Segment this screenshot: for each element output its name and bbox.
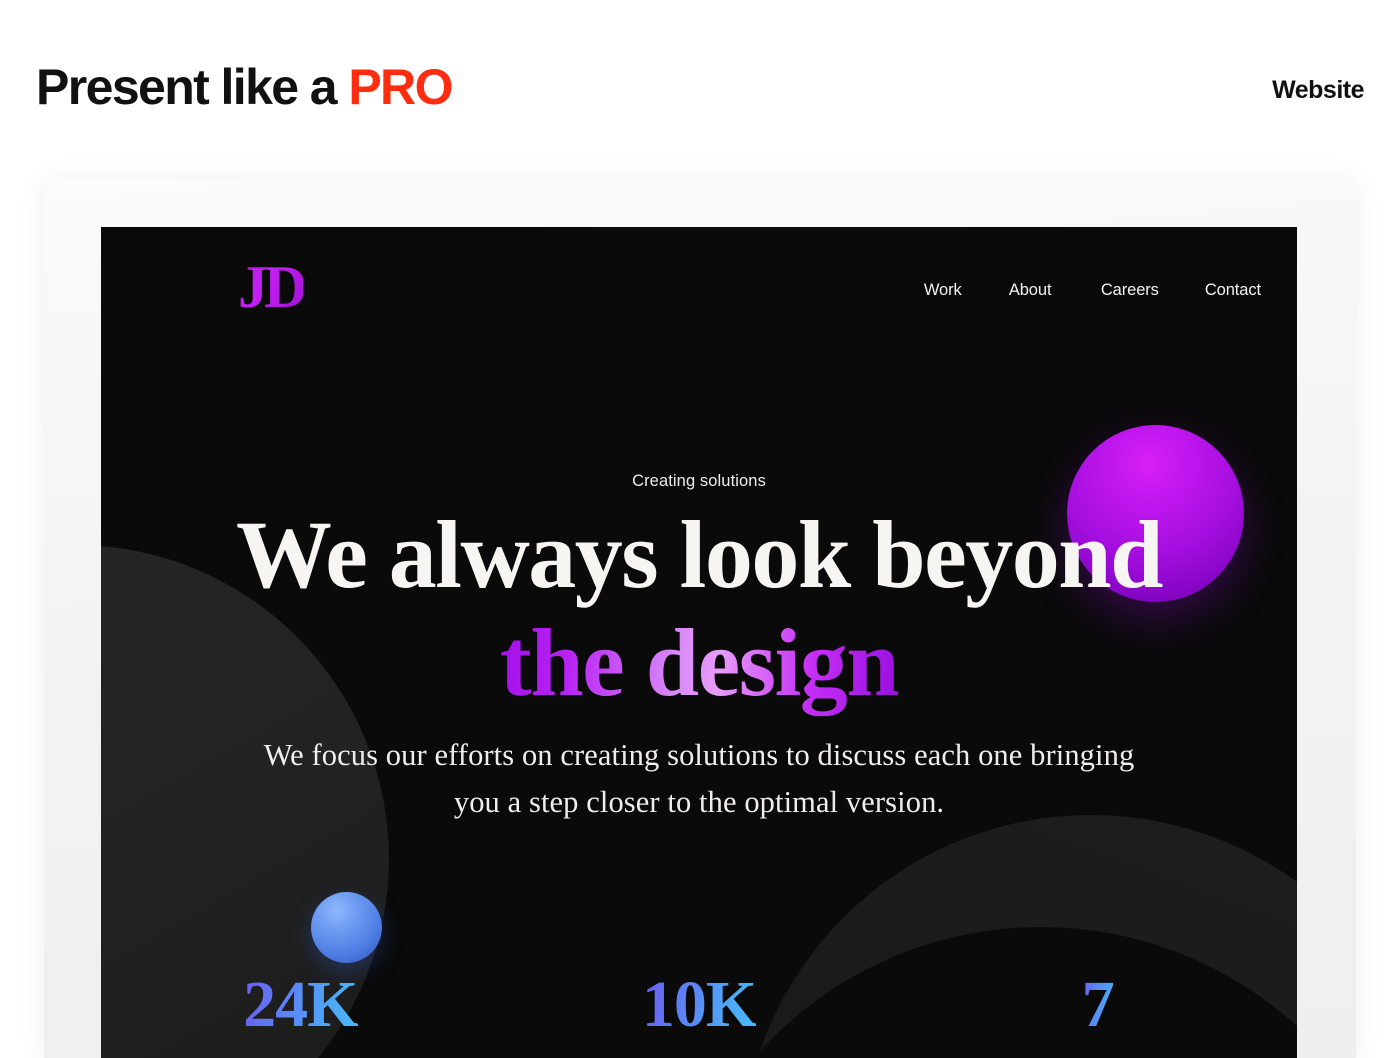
stat-item-3: 7 xyxy=(898,972,1297,1038)
stat-value-3: 7 xyxy=(1082,968,1114,1041)
stat-item-1: 24K xyxy=(101,972,500,1038)
nav-links: Work About Careers Contact xyxy=(924,281,1261,300)
page-title-main: Present like a xyxy=(36,59,348,115)
hero-headline-gradient-text: the design xyxy=(500,609,898,716)
stat-item-2: 10K xyxy=(500,972,899,1038)
hero-headline-line-2: the design xyxy=(101,615,1297,711)
stat-value-2: 10K xyxy=(642,968,756,1041)
hero-paragraph: We focus our efforts on creating solutio… xyxy=(261,732,1137,827)
hero-headline-line-1: We always look beyond xyxy=(101,507,1297,603)
website-preview: JD Work About Careers Contact Creating s… xyxy=(101,227,1297,1058)
stats-row: 24K 10K 7 xyxy=(101,972,1297,1038)
category-label: Website xyxy=(1272,78,1364,103)
page-header: Present like a PRO Website xyxy=(0,0,1400,178)
stat-value-1: 24K xyxy=(243,968,357,1041)
mockup-frame: JD Work About Careers Contact Creating s… xyxy=(44,178,1356,1058)
page-title-accent: PRO xyxy=(348,59,452,115)
brand-logo[interactable]: JD xyxy=(238,257,303,317)
nav-item-work[interactable]: Work xyxy=(924,281,976,300)
page-title: Present like a PRO xyxy=(36,62,452,112)
hero-eyebrow: Creating solutions xyxy=(101,472,1297,491)
nav-item-careers[interactable]: Careers xyxy=(1101,281,1172,300)
site-navigation: JD Work About Careers Contact xyxy=(101,227,1297,367)
nav-item-about[interactable]: About xyxy=(1009,281,1068,300)
nav-item-contact[interactable]: Contact xyxy=(1205,281,1261,300)
